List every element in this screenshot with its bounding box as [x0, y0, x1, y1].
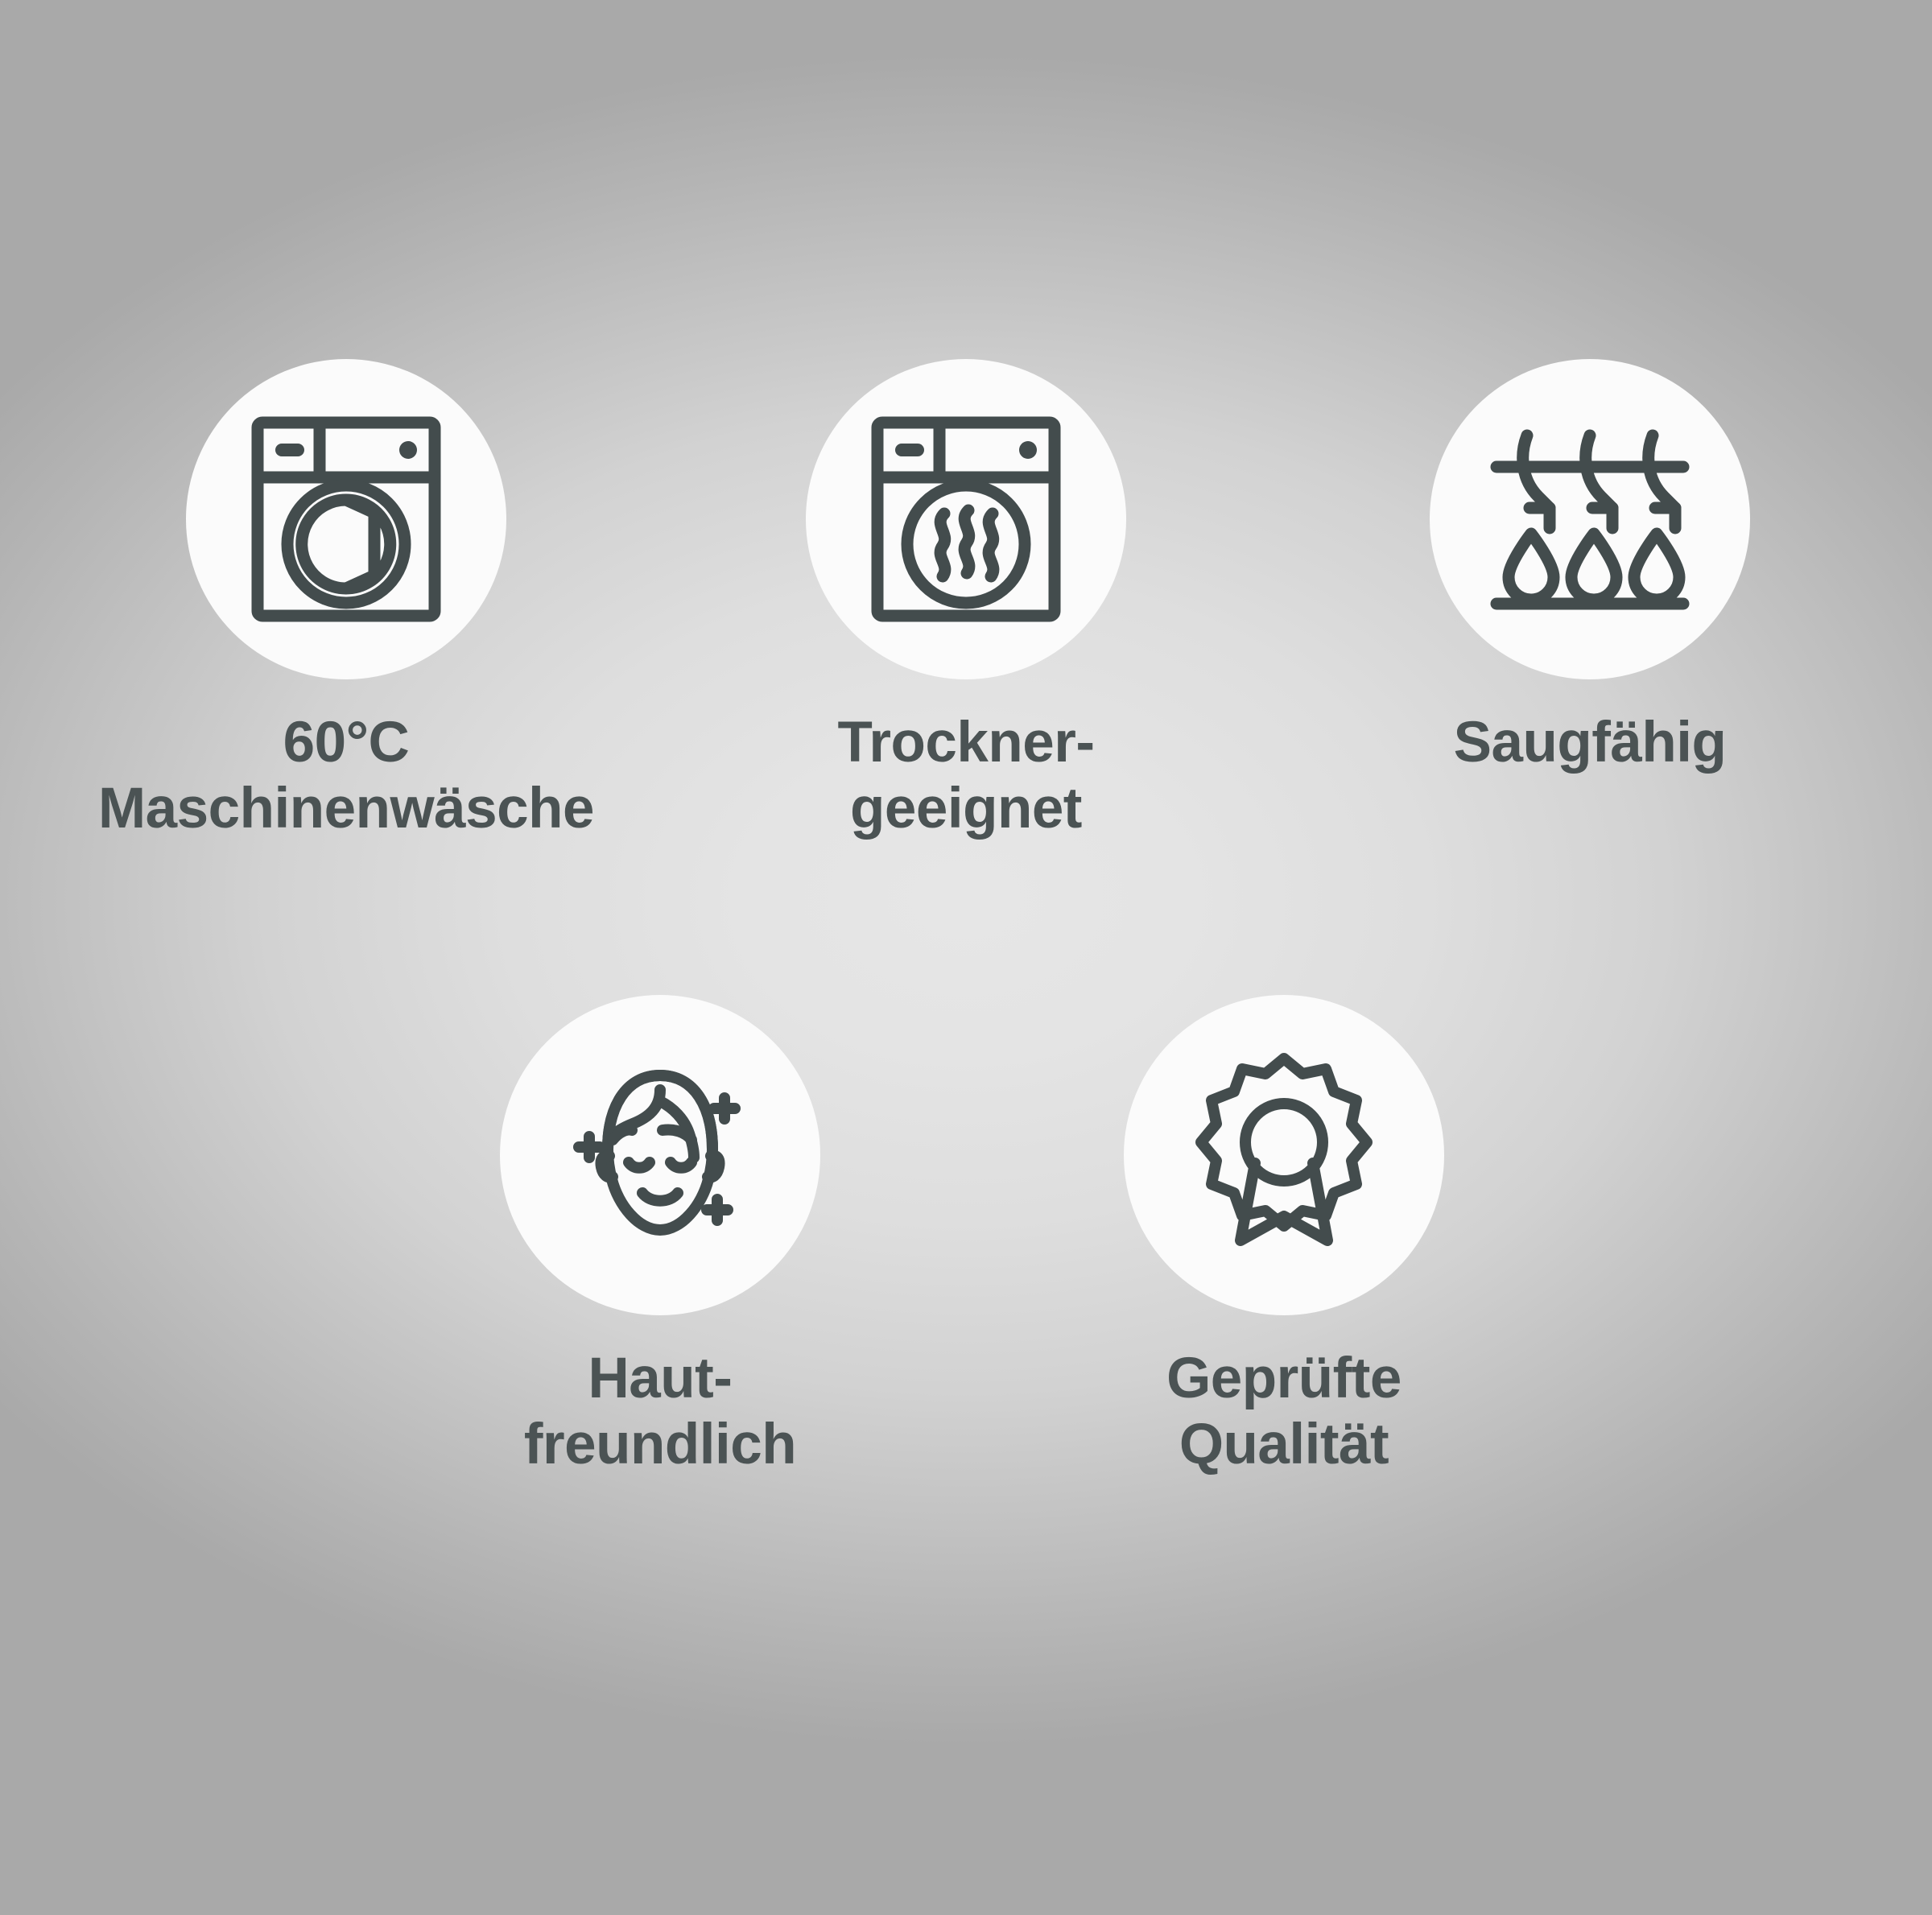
feature-label-tested-quality: Geprüfte Qualität: [1166, 1346, 1402, 1479]
feature-label-absorbent: Saugfähig: [1454, 710, 1727, 776]
award-rosette-icon: [1195, 1050, 1373, 1260]
feature-tested-quality: Geprüfte Qualität: [1034, 995, 1534, 1479]
feature-skin-friendly: Haut- freundlich: [411, 995, 910, 1479]
absorbency-droplets-icon: [1489, 427, 1690, 611]
icon-badge-machine-wash: [186, 359, 506, 679]
feature-grid: 60°C Maschinenwäsche: [0, 0, 1932, 1915]
icon-badge-skin-friendly: [500, 995, 820, 1315]
icon-badge-tested-quality: [1124, 995, 1444, 1315]
face-skin-icon: [559, 1054, 761, 1256]
icon-badge-tumble-dry: [806, 359, 1126, 679]
tumble-dryer-icon: [870, 415, 1062, 623]
washing-machine-icon: [250, 415, 442, 623]
feature-label-machine-wash: 60°C Maschinenwäsche: [98, 710, 594, 843]
feature-absorbent: Saugfähig: [1340, 359, 1839, 776]
feature-machine-wash: 60°C Maschinenwäsche: [97, 359, 596, 843]
icon-badge-absorbent: [1430, 359, 1750, 679]
product-feature-board: 60°C Maschinenwäsche: [0, 0, 1932, 1915]
feature-label-tumble-dry: Trockner- geeignet: [837, 710, 1094, 843]
feature-tumble-dry: Trockner- geeignet: [716, 359, 1216, 843]
feature-label-skin-friendly: Haut- freundlich: [524, 1346, 796, 1479]
